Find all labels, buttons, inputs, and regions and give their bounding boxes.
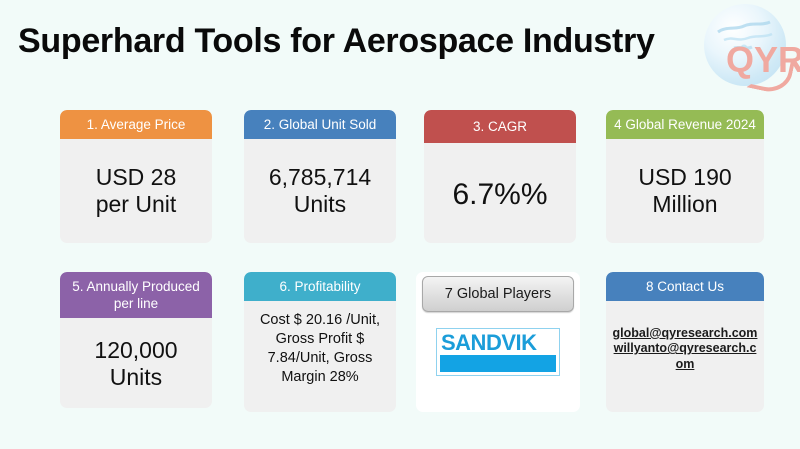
card-body: 120,000 Units	[60, 318, 212, 408]
card-value-line-1: 6.7%%	[452, 178, 547, 212]
card-body: USD 28 per Unit	[60, 139, 212, 243]
card-value-line-1: 120,000	[94, 337, 177, 364]
card-value-line-2: Units	[269, 191, 371, 218]
card-body: USD 190 Million	[606, 139, 764, 243]
sandvik-wordmark: SANDVIK	[440, 331, 556, 354]
metric-card-global-players: 7 Global Players SANDVIK	[416, 272, 580, 412]
card-header-label[interactable]: 7 Global Players	[422, 276, 574, 312]
card-body: global@qyresearch.com willyanto@qyresear…	[606, 301, 764, 397]
card-value-line-2: Units	[94, 364, 177, 391]
card-header-label: 4 Global Revenue 2024	[606, 110, 764, 139]
sandvik-bar-icon	[440, 355, 556, 372]
page-title: Superhard Tools for Aerospace Industry	[18, 22, 655, 61]
card-header-label: 2. Global Unit Sold	[244, 110, 396, 139]
card-value-text: Cost $ 20.16 /Unit, Gross Profit $ 7.84/…	[250, 311, 390, 387]
metric-card-average-price: 1. Average Price USD 28 per Unit	[60, 110, 212, 243]
metric-card-profitability: 6. Profitability Cost $ 20.16 /Unit, Gro…	[244, 272, 396, 412]
qyr-logo: QYR	[700, 2, 798, 94]
card-value-line-2: Million	[638, 191, 731, 218]
card-value-line-2: per Unit	[96, 191, 177, 218]
card-header-label: 3. CAGR	[424, 110, 576, 143]
card-value-line-1: 6,785,714	[269, 164, 371, 191]
card-body: 6,785,714 Units	[244, 139, 396, 243]
metric-card-annual-production: 5. Annually Produced per line 120,000 Un…	[60, 272, 212, 408]
email-link-willyanto[interactable]: willyanto@qyresearch.com	[614, 341, 757, 371]
card-header-label: 6. Profitability	[244, 272, 396, 301]
card-value-line-1: USD 190	[638, 164, 731, 191]
card-body: Cost $ 20.16 /Unit, Gross Profit $ 7.84/…	[244, 301, 396, 397]
card-header-label: 1. Average Price	[60, 110, 212, 139]
metric-card-global-revenue: 4 Global Revenue 2024 USD 190 Million	[606, 110, 764, 243]
card-header-label: 5. Annually Produced per line	[60, 272, 212, 318]
metric-card-cagr: 3. CAGR 6.7%%	[424, 110, 576, 243]
metric-card-contact-us: 8 Contact Us global@qyresearch.com willy…	[606, 272, 764, 412]
card-header-label: 8 Contact Us	[606, 272, 764, 301]
card-body: 6.7%%	[424, 143, 576, 243]
logo-text: QYR	[726, 42, 800, 78]
card-value-line-1: USD 28	[96, 164, 177, 191]
metric-card-global-unit-sold: 2. Global Unit Sold 6,785,714 Units	[244, 110, 396, 243]
sandvik-logo: SANDVIK	[436, 328, 560, 376]
email-link-global[interactable]: global@qyresearch.com	[613, 326, 758, 340]
